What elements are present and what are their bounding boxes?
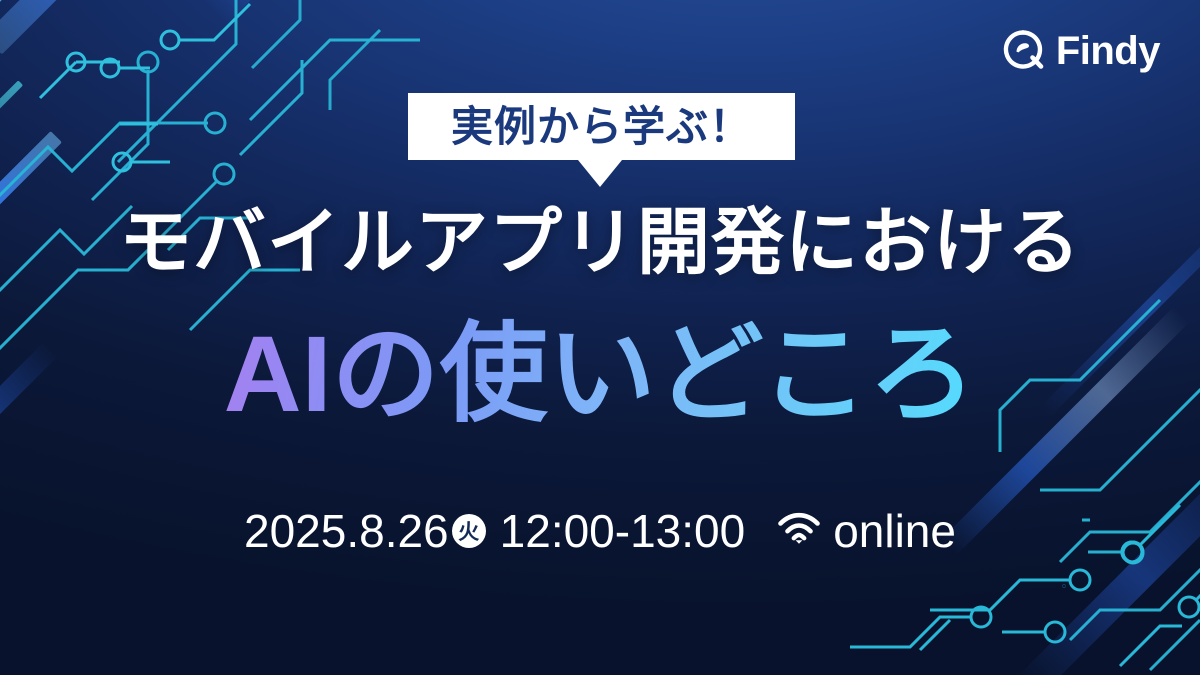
event-date: 2025.8.26 [244, 508, 449, 554]
streak-10 [1016, 451, 1200, 675]
streak-6 [0, 80, 23, 226]
speech-bubble: 実例から学ぶ！ [408, 93, 795, 160]
event-details-bar: 2025.8.26 火 12:00-13:00 online [0, 508, 1200, 554]
day-of-week-badge: 火 [452, 514, 486, 548]
streak-4 [197, 0, 524, 24]
headline-line-1: モバイルアプリ開発における [0, 206, 1200, 279]
streak-1 [0, 0, 132, 81]
speech-bubble-tail [578, 160, 622, 187]
event-banner: Findy 実例から学ぶ！ モバイルアプリ開発における AIの使いどころ 202… [0, 0, 1200, 675]
headline-line-2: AIの使いどころ [0, 310, 1200, 437]
findy-q-mark-icon [1002, 29, 1045, 72]
findy-logo[interactable]: Findy [1002, 29, 1160, 72]
streak-2 [0, 0, 256, 54]
findy-logo-text: Findy [1056, 31, 1160, 71]
event-venue: online [833, 508, 956, 554]
wifi-icon [777, 512, 821, 551]
speech-bubble-text: 実例から学ぶ！ [451, 106, 752, 148]
event-time: 12:00-13:00 [500, 508, 746, 554]
